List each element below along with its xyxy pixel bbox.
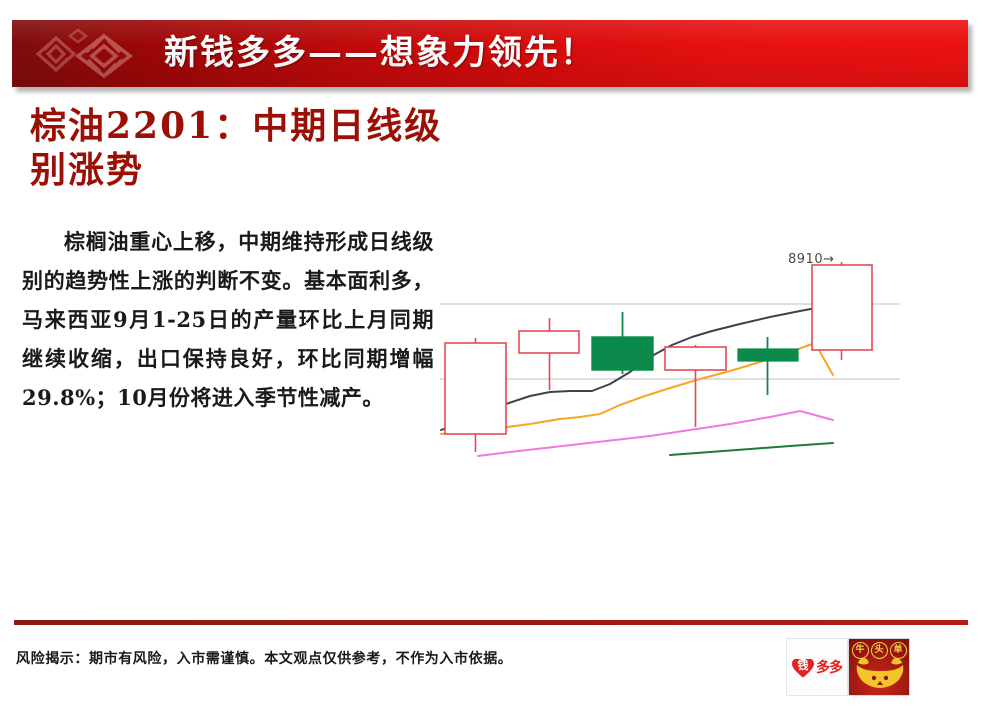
qianduoduo-logo: 钱 多多 bbox=[786, 638, 848, 696]
candle-1 bbox=[445, 338, 506, 452]
banner-title: 新钱多多——想象力领先！ bbox=[164, 28, 596, 78]
slide: 新钱多多——想象力领先！ 棕油2201：中期日线级别涨势 棕榈油重心上移，中期维… bbox=[0, 0, 982, 720]
header-banner: 新钱多多——想象力领先！ bbox=[12, 20, 968, 87]
ma-line-green bbox=[670, 443, 833, 455]
candlestick-chart: 8910→ bbox=[430, 240, 920, 490]
bull-head-icon bbox=[853, 657, 907, 691]
heart-char: 钱 bbox=[792, 660, 814, 672]
chinese-knot-icon bbox=[22, 26, 150, 82]
qianduoduo-label: 多多 bbox=[816, 657, 842, 677]
heart-icon: 钱 bbox=[792, 657, 814, 678]
page-title: 棕油2201：中期日线级别涨势 bbox=[30, 104, 450, 192]
body-paragraph: 棕榈油重心上移，中期维持形成日线级别的趋势性上涨的判断不变。基本面利多，马来西亚… bbox=[22, 222, 434, 417]
logo-group: 钱 多多 牛头单 bbox=[786, 638, 910, 696]
chart-svg bbox=[430, 240, 920, 490]
candle-6 bbox=[812, 262, 872, 360]
niutoudan-logo: 牛头单 bbox=[848, 638, 910, 696]
banner-bar: 新钱多多——想象力领先！ bbox=[12, 20, 968, 87]
candles bbox=[445, 262, 872, 452]
price-annotation: 8910→ bbox=[788, 252, 834, 267]
disclaimer-text: 风险揭示：期市有风险，入市需谨慎。本文观点仅供参考，不作为入市依据。 bbox=[16, 648, 512, 668]
candle-3 bbox=[592, 312, 653, 374]
ma-line-pink bbox=[478, 411, 833, 456]
footer-divider bbox=[14, 620, 968, 625]
